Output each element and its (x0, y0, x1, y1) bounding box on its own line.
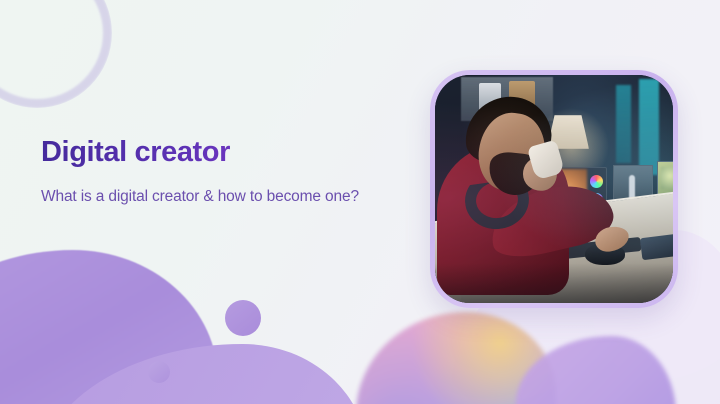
blob-bottom-left-secondary (38, 344, 368, 404)
circle-decoration-large (225, 300, 261, 336)
ring-decoration (0, 0, 112, 108)
page-title: Digital creator (41, 136, 393, 170)
blob-bottom-left (0, 250, 218, 404)
blob-bottom-right-gradient (356, 312, 556, 404)
photo-rim-light (435, 75, 673, 303)
text-column: Digital creator What is a digital creato… (41, 136, 393, 208)
photo-image (435, 75, 673, 303)
circle-decoration-small (148, 361, 170, 383)
slide-canvas: Digital creator What is a digital creato… (0, 0, 720, 404)
page-subtitle: What is a digital creator & how to becom… (41, 186, 381, 208)
blob-bottom-right-purple (516, 336, 676, 404)
photo-card (430, 70, 678, 308)
